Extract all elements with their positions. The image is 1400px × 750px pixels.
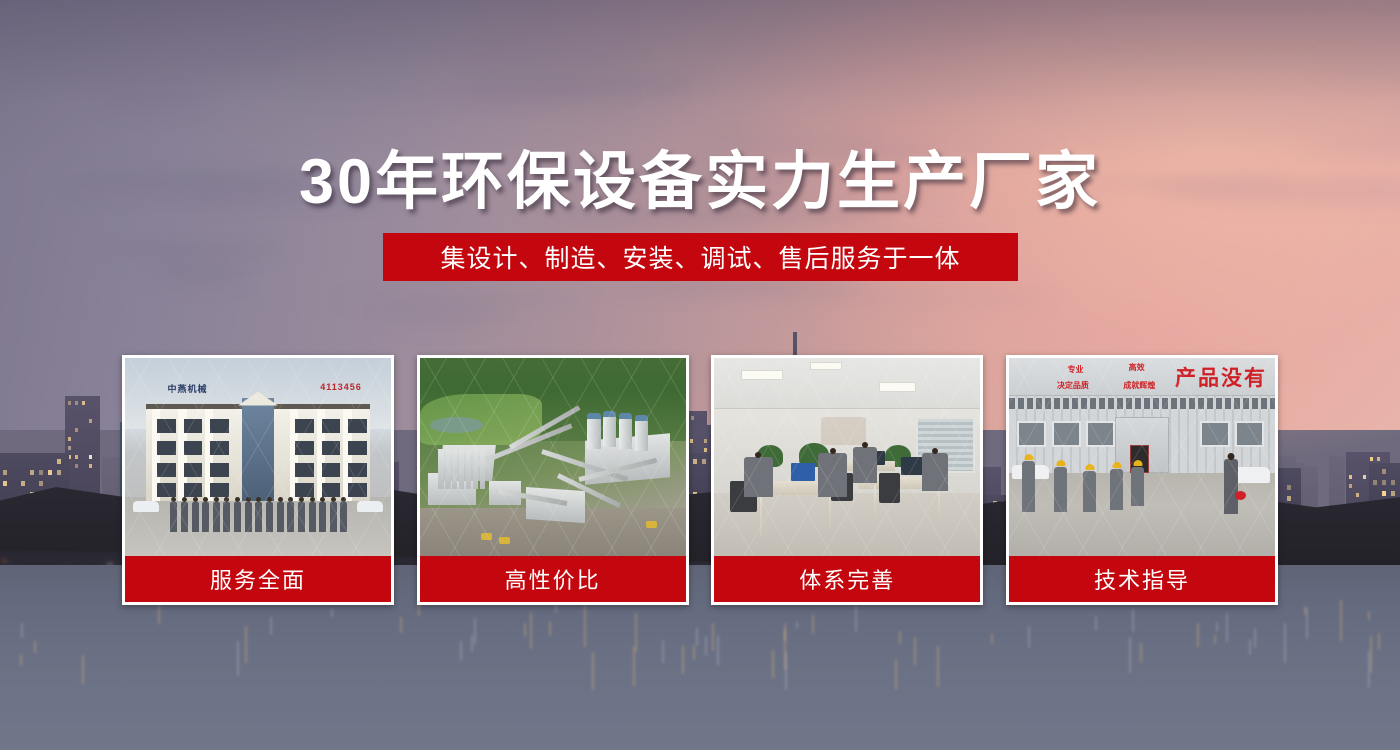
- photo1-window: [348, 463, 367, 477]
- cloud-wisp: [63, 37, 425, 51]
- building-window: [3, 481, 7, 486]
- photo4-worker: [1083, 471, 1096, 513]
- photo1-window: [210, 441, 229, 455]
- building-window: [75, 428, 78, 432]
- water-reflection: [1340, 600, 1342, 641]
- card-caption-value: 高性价比: [420, 556, 686, 602]
- photo4-clerestory-windows: [1009, 398, 1275, 410]
- photo4-worker: [1131, 467, 1144, 507]
- photo2-stack: [466, 449, 471, 489]
- water-reflection: [331, 608, 333, 617]
- photo1-staff-member: [192, 502, 199, 532]
- photo4-window: [1052, 421, 1081, 447]
- water-reflection: [592, 652, 594, 690]
- building-window: [1391, 480, 1395, 485]
- photo1-window: [184, 441, 203, 455]
- photo4-slogan-small-1: 专业: [1067, 364, 1083, 375]
- photo3-desk-leg: [760, 493, 762, 537]
- water-reflection: [1226, 613, 1228, 642]
- building-window: [1382, 480, 1386, 485]
- photo1-glass-entrance: [242, 398, 274, 501]
- building-window: [75, 455, 78, 459]
- card-photo-office-interior: [714, 358, 980, 556]
- photo1-staff-member: [223, 502, 230, 532]
- building-window: [39, 481, 43, 486]
- water-reflection: [1140, 643, 1142, 662]
- photo1-staff-member: [213, 502, 220, 532]
- photo1-window: [295, 441, 314, 455]
- photo1-staff-member: [181, 502, 188, 532]
- photo4-window: [1235, 421, 1264, 447]
- photo1-staff-member: [287, 502, 294, 532]
- building-window: [1373, 480, 1377, 485]
- water-reflection: [899, 631, 901, 644]
- photo1-window: [322, 463, 341, 477]
- cloud-wisp: [95, 84, 209, 112]
- water-reflection: [937, 646, 939, 687]
- building-window: [68, 446, 71, 450]
- building-window: [1382, 491, 1386, 496]
- photo4-car: [1232, 467, 1269, 483]
- water-reflection: [34, 641, 36, 653]
- photo1-window: [322, 483, 341, 497]
- photo3-ceiling-light: [741, 370, 784, 380]
- building-window: [89, 464, 92, 468]
- building-window: [39, 470, 43, 475]
- water-reflection: [82, 655, 84, 683]
- building-window: [89, 419, 92, 423]
- photo1-window: [295, 419, 314, 433]
- photo1-window: [348, 483, 367, 497]
- photo1-car-left: [133, 501, 159, 512]
- cloud-wisp: [47, 51, 294, 67]
- photo1-staff-member: [298, 502, 305, 532]
- water-reflection: [158, 604, 160, 624]
- card-photo-workers-factory: 产品没有 专业 高效 决定品质 成就辉煌: [1009, 358, 1275, 556]
- water-reflection: [460, 641, 462, 660]
- photo1-phone-number: 4113456: [320, 382, 362, 392]
- photo2-silo-cap: [635, 415, 648, 421]
- building-window: [68, 437, 71, 441]
- photo1-window: [157, 463, 176, 477]
- water-reflection: [549, 621, 551, 636]
- photo2-excavator: [481, 533, 492, 540]
- building-window: [57, 459, 61, 464]
- page-title: 30年环保设备实力生产厂家: [0, 131, 1400, 222]
- photo1-staff-member: [255, 502, 262, 532]
- water-reflection: [717, 635, 719, 666]
- cloud-wisp: [811, 84, 1069, 105]
- photo1-window: [210, 483, 229, 497]
- photo1-staff-member: [319, 502, 326, 532]
- building-window: [57, 470, 61, 475]
- water-reflection: [991, 634, 993, 644]
- building-window: [3, 470, 7, 475]
- photo2-stack: [473, 449, 478, 489]
- photo4-slogan-small-3: 决定品质: [1057, 380, 1089, 391]
- photo4-slogan-small-4: 成就辉煌: [1123, 380, 1155, 391]
- photo2-excavator: [499, 537, 510, 544]
- cloud-wisp: [445, 46, 642, 63]
- building-window: [30, 470, 34, 475]
- building-window: [75, 401, 78, 405]
- water-reflection: [21, 623, 23, 637]
- photo1-window: [348, 419, 367, 433]
- photo2-silo-cap: [587, 413, 600, 419]
- photo1-window: [295, 463, 314, 477]
- photo3-laptop: [791, 463, 815, 481]
- photo2-stack: [445, 449, 450, 489]
- feature-card-value[interactable]: 高性价比: [417, 355, 689, 605]
- water-reflection: [1254, 628, 1256, 649]
- water-reflection: [662, 640, 664, 664]
- water-reflection: [1132, 609, 1134, 632]
- photo1-staff-member: [202, 502, 209, 532]
- water-reflection: [1216, 622, 1218, 632]
- photo3-staff: [922, 453, 949, 491]
- photo1-window: [322, 419, 341, 433]
- water-reflection: [635, 613, 637, 652]
- photo2-excavator: [646, 521, 657, 528]
- building-window: [75, 464, 78, 468]
- water-reflection: [1028, 626, 1030, 648]
- photo1-window: [295, 483, 314, 497]
- building-window: [1363, 475, 1366, 479]
- photo3-scene: [714, 358, 980, 556]
- photo2-silo: [603, 415, 616, 447]
- photo4-window: [1200, 421, 1229, 447]
- building-window: [1349, 475, 1352, 479]
- feature-card-guidance[interactable]: 产品没有 专业 高效 决定品质 成就辉煌 技术指导: [1006, 355, 1278, 605]
- photo1-window: [210, 419, 229, 433]
- photo4-worker: [1054, 467, 1067, 513]
- feature-card-list: 中燕机械 4113456 服务全面: [122, 355, 1278, 605]
- photo1-window: [184, 483, 203, 497]
- photo2-silo: [619, 417, 632, 449]
- promo-banner: 30年环保设备实力生产厂家 集设计、制造、安装、调试、售后服务于一体 中燕机械 …: [0, 0, 1400, 750]
- photo4-window: [1017, 421, 1046, 447]
- photo1-staff-member: [266, 502, 273, 532]
- building-window: [1356, 493, 1359, 497]
- building-window: [1287, 485, 1291, 490]
- water-reflection: [471, 635, 473, 652]
- photo2-silo-cap: [619, 413, 632, 419]
- photo1-staff-member: [330, 502, 337, 532]
- water-reflection: [530, 613, 532, 649]
- photo4-slogan-small-2: 高效: [1129, 362, 1145, 373]
- water-reflection: [524, 623, 526, 637]
- water-reflection: [20, 654, 22, 666]
- water-reflection: [584, 605, 586, 646]
- water-reflection: [812, 615, 814, 634]
- water-reflection: [474, 618, 476, 644]
- photo2-stack: [459, 449, 464, 489]
- building-window: [1377, 457, 1380, 461]
- photo1-window: [184, 463, 203, 477]
- photo2-stack: [438, 449, 443, 489]
- photo4-red-helmet: [1235, 491, 1246, 500]
- water-reflection: [693, 645, 695, 660]
- photo1-staff-member: [245, 502, 252, 532]
- photo1-staff-member: [277, 502, 284, 532]
- water-reflection: [914, 637, 916, 665]
- photo1-window: [348, 441, 367, 455]
- photo3-wall-decal: [821, 417, 866, 445]
- building-window: [1287, 496, 1291, 501]
- photo1-staff-member: [309, 502, 316, 532]
- building-window: [1382, 469, 1386, 474]
- subtitle-banner: 集设计、制造、安装、调试、售后服务于一体: [383, 233, 1018, 281]
- water-reflection: [1214, 635, 1216, 644]
- photo1-staff-member: [170, 502, 177, 532]
- card-caption-service: 服务全面: [125, 556, 391, 602]
- building-window: [1349, 484, 1352, 488]
- photo1-company-sign: 中燕机械: [168, 382, 208, 395]
- photo1-window: [184, 419, 203, 433]
- photo1-window: [157, 441, 176, 455]
- feature-card-system[interactable]: 体系完善: [711, 355, 983, 605]
- card-photo-company-building: 中燕机械 4113456: [125, 358, 391, 556]
- water-reflection: [245, 626, 247, 663]
- building-window: [1391, 491, 1395, 496]
- photo1-staff-member: [234, 502, 241, 532]
- water-reflection: [895, 659, 897, 690]
- water-reflection: [1249, 639, 1251, 655]
- water-reflection: [772, 650, 774, 679]
- water-reflection: [400, 617, 402, 633]
- building-window: [21, 481, 25, 486]
- water-reflection: [855, 606, 857, 633]
- photo2-scene: [420, 358, 686, 556]
- photo1-window: [210, 463, 229, 477]
- photo2-silo-cap: [603, 411, 616, 417]
- photo4-window: [1086, 421, 1115, 447]
- photo1-staff-member: [340, 502, 347, 532]
- feature-card-service[interactable]: 中燕机械 4113456 服务全面: [122, 355, 394, 605]
- photo3-staff: [853, 447, 877, 483]
- building-window: [89, 455, 92, 459]
- photo4-worker: [1022, 461, 1035, 512]
- water-reflection: [1368, 651, 1370, 689]
- water-reflection: [712, 623, 714, 651]
- photo2-silo: [587, 417, 600, 449]
- photo3-desk-leg: [874, 485, 876, 521]
- photo4-worker: [1110, 469, 1123, 511]
- water-reflection: [237, 641, 239, 675]
- card-photo-plant-aerial: [420, 358, 686, 556]
- photo2-stack: [452, 449, 457, 489]
- photo4-supervisor: [1224, 459, 1238, 514]
- photo3-staff: [818, 453, 847, 497]
- photo3-ceiling-light: [879, 382, 916, 392]
- photo2-stack: [480, 449, 485, 489]
- water-reflection: [1368, 611, 1370, 620]
- water-reflection: [705, 636, 707, 656]
- water-reflection: [270, 617, 272, 635]
- building-window: [68, 401, 71, 405]
- water-reflection: [1378, 633, 1380, 650]
- photo2-shed: [526, 487, 585, 523]
- subtitle-text: 集设计、制造、安装、调试、售后服务于一体: [440, 239, 960, 275]
- photo1-car-right: [357, 501, 383, 512]
- photo3-chair: [879, 473, 900, 503]
- photo2-silo: [635, 419, 648, 451]
- photo1-window: [157, 483, 176, 497]
- cloud-wisp: [463, 81, 682, 104]
- water-reflection: [1284, 623, 1286, 662]
- photo3-ceiling-light: [810, 362, 842, 370]
- photo1-window: [157, 419, 176, 433]
- water-reflection: [682, 645, 684, 674]
- photo1-scene: 中燕机械 4113456: [125, 358, 391, 556]
- photo1-window: [322, 441, 341, 455]
- building-window: [82, 401, 85, 405]
- card-caption-guidance: 技术指导: [1009, 556, 1275, 602]
- card-caption-system: 体系完善: [714, 556, 980, 602]
- water-reflection: [1129, 637, 1131, 673]
- photo4-scene: 产品没有 专业 高效 决定品质 成就辉煌: [1009, 358, 1275, 556]
- photo4-factory-slogan: 产品没有: [1175, 362, 1267, 392]
- photo3-staff: [744, 457, 773, 497]
- building-window: [1370, 457, 1373, 461]
- photo3-ceiling: [714, 358, 980, 409]
- water-reflection: [1095, 616, 1097, 631]
- building-window: [48, 470, 52, 475]
